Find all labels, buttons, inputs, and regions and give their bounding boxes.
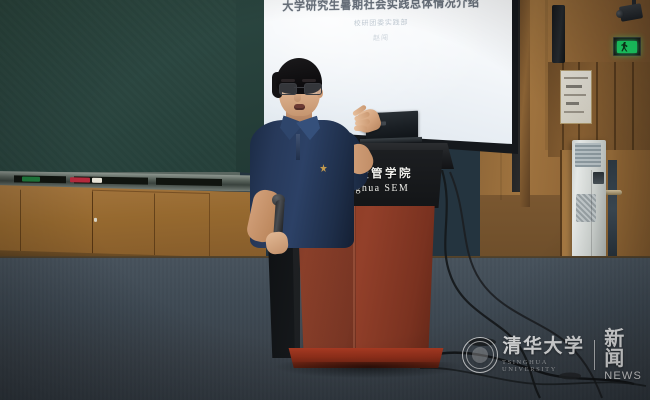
chalk-red[interactable] <box>70 177 90 182</box>
watermark-org-chinese: 清华大学 <box>503 337 585 356</box>
tsinghua-seal-icon <box>462 337 498 373</box>
eyebrow-left <box>281 79 295 82</box>
glasses-icon <box>278 83 321 94</box>
wall-notice-frame <box>560 70 592 124</box>
wall-speaker <box>552 5 565 63</box>
lens-right <box>304 83 322 95</box>
speaker-figure <box>228 58 378 298</box>
eyebrow-right <box>302 79 316 82</box>
left-hand-holding-mic <box>265 231 289 255</box>
lens-left <box>279 83 297 95</box>
lecture-hall-photo: 大学研究生暑期社会实践总体情况介绍 校研团委实践部 赵闯 <box>0 0 650 400</box>
mouth <box>294 104 305 110</box>
shirt-placket <box>296 134 300 160</box>
watermark-section: 新闻 NEWS <box>604 328 642 382</box>
chalk-green[interactable] <box>22 176 40 181</box>
watermark-section-english: NEWS <box>604 370 642 382</box>
exit-sign-icon <box>613 37 641 56</box>
ac-vent <box>575 143 601 167</box>
watermark: 清华大学 TSINGHUA UNIVERSITY 新闻 NEWS <box>462 331 642 379</box>
watermark-org: 清华大学 TSINGHUA UNIVERSITY <box>502 337 585 373</box>
watermark-divider <box>594 340 595 370</box>
green-chalkboard <box>0 0 236 172</box>
watermark-section-chinese: 新闻 <box>604 328 642 368</box>
camera-lens <box>615 9 624 18</box>
finger <box>354 126 367 131</box>
exit-sign-panel <box>617 41 637 53</box>
podium-floor-shadow <box>276 362 462 378</box>
watermark-org-english: TSINGHUA UNIVERSITY <box>502 359 585 373</box>
chalk-white[interactable] <box>92 178 102 183</box>
running-man-icon <box>621 42 628 52</box>
glasses-bridge <box>294 87 305 88</box>
